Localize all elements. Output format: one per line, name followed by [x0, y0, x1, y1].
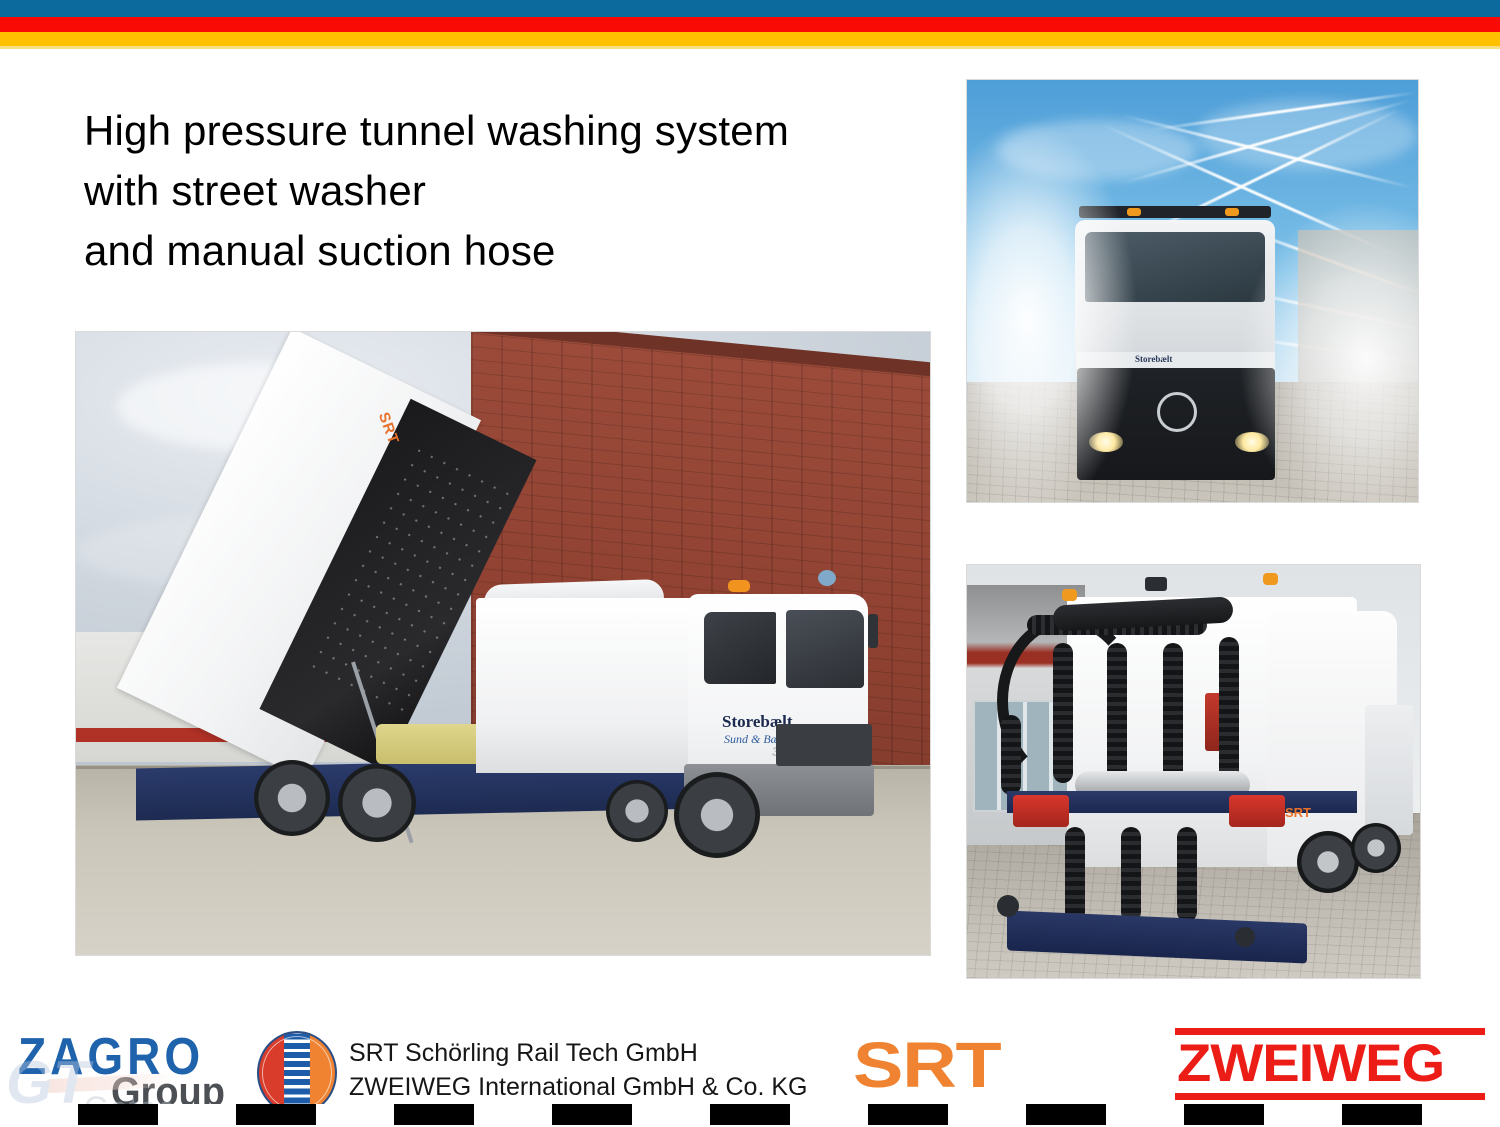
suction-hose-vertical	[1107, 643, 1127, 783]
header-stripe-red	[0, 17, 1500, 32]
wheel	[338, 764, 416, 842]
side-mirror	[868, 614, 878, 648]
tail-light	[1013, 795, 1069, 827]
cab-side-window	[704, 612, 776, 684]
front-grille	[776, 724, 872, 766]
wheel	[1351, 823, 1401, 873]
photo-front-view-spraying: Storebælt	[967, 80, 1418, 502]
photo-main-tipping-container: SRT Storebælt Sund & Bælt 3344 SRT	[76, 332, 930, 955]
wheel	[1297, 831, 1359, 893]
header-stripe-yellow	[0, 32, 1500, 46]
suction-hose-lower	[1121, 827, 1141, 922]
roof-beacon-orange-icon	[1062, 589, 1077, 601]
zweiweg-wordmark: ZWEIWEG	[1177, 1033, 1444, 1094]
truck-cab	[1365, 705, 1413, 835]
suction-hose-lower	[1177, 827, 1197, 922]
water-mist	[1228, 200, 1418, 502]
body-srt-logo: SRT	[1285, 805, 1311, 820]
suction-hose-vertical	[1219, 637, 1239, 787]
zweiweg-bar-bottom	[1175, 1093, 1485, 1100]
suction-hose-vertical	[1163, 643, 1183, 783]
cab-windshield	[786, 610, 864, 688]
checker-strip	[0, 1104, 1500, 1125]
suction-hose-vertical	[1001, 715, 1021, 795]
header-stripe-fade	[0, 46, 1500, 49]
suction-hose-vertical	[1053, 643, 1073, 783]
roof-beacon-blue-icon	[818, 570, 836, 586]
header-stripe-bar	[0, 0, 1500, 49]
roof-beacon-orange-icon	[1263, 573, 1278, 585]
srt-emblem-ring	[262, 1036, 332, 1110]
suction-hose-lower	[1065, 827, 1085, 922]
wheel	[674, 772, 760, 858]
zagro-group-logo: ZAGRO Group	[18, 1026, 248, 1106]
wheel	[606, 780, 668, 842]
photo-rear-view-suction-hoses: SRT	[967, 565, 1420, 978]
header-stripe-blue	[0, 0, 1500, 17]
srt-wordmark-logo: SRT	[853, 1028, 1001, 1102]
company-names: SRT Schörling Rail Tech GmbH ZWEIWEG Int…	[349, 1036, 807, 1104]
tail-light	[1229, 795, 1285, 827]
guide-roller	[1235, 927, 1255, 947]
page-title: High pressure tunnel washing system with…	[84, 101, 964, 281]
work-lamp-icon	[1145, 577, 1167, 591]
water-mist	[967, 120, 1147, 502]
guide-roller	[997, 895, 1019, 917]
roof-beacon-orange-icon	[728, 580, 750, 592]
wheel	[254, 760, 330, 836]
mercedes-star-icon	[1157, 392, 1197, 432]
zweiweg-logo: ZWEIWEG	[1175, 1028, 1485, 1100]
srt-oval-emblem-icon	[257, 1031, 337, 1115]
